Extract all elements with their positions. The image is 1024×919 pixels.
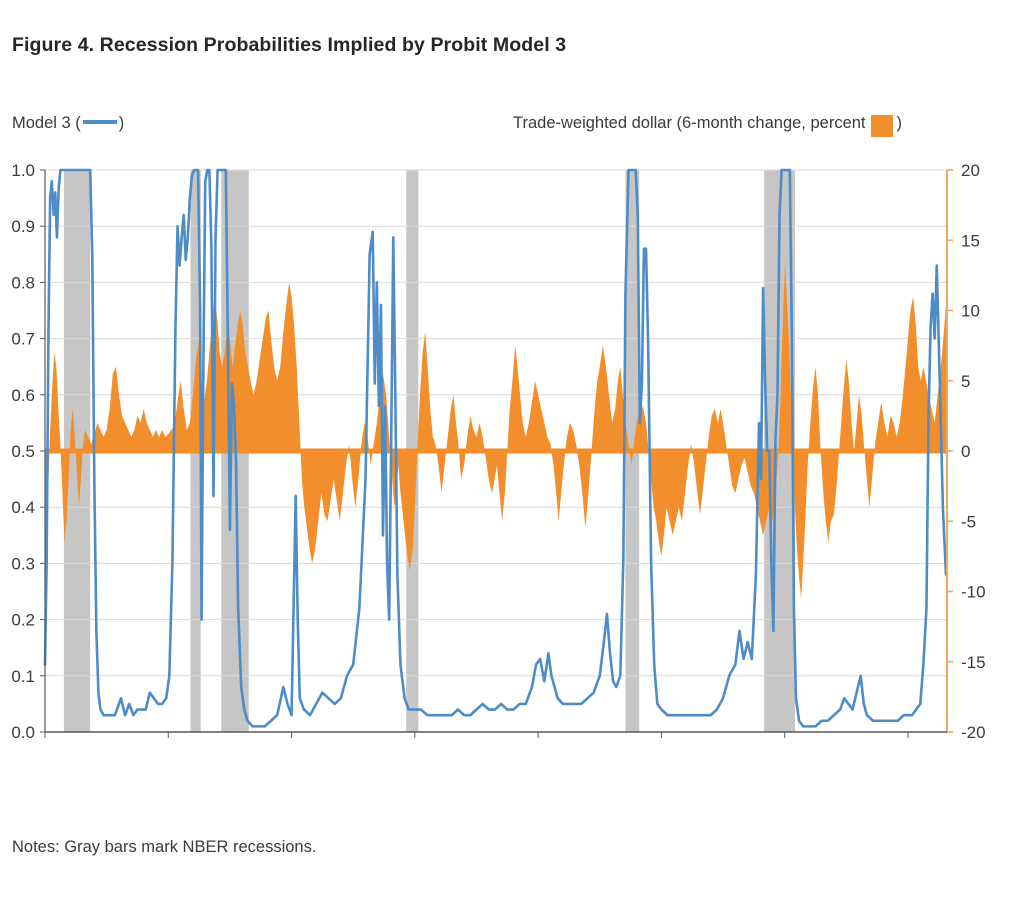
dollar-area-series bbox=[45, 261, 947, 598]
y2-tick-label: 5 bbox=[961, 372, 970, 391]
recession-probability-chart: 1.00.90.80.70.60.50.40.30.20.10.0 201510… bbox=[0, 155, 1024, 745]
y-tick-label: 0.5 bbox=[11, 442, 35, 461]
y2-tick-label: 15 bbox=[961, 231, 980, 250]
y-tick-label: 0.6 bbox=[11, 386, 35, 405]
y2-tick-label: -10 bbox=[961, 583, 986, 602]
legend-model3-suffix: ) bbox=[119, 114, 125, 133]
figure-page: Figure 4. Recession Probabilities Implie… bbox=[0, 0, 1024, 919]
y-tick-label: 0.8 bbox=[11, 273, 35, 292]
y2-tick-label: -20 bbox=[961, 723, 986, 742]
y2-tick-label: 20 bbox=[961, 161, 980, 180]
y2-tick-label: -15 bbox=[961, 653, 986, 672]
y-tick-label: 0.0 bbox=[11, 723, 35, 742]
legend-dollar: Trade-weighted dollar (6-month change, p… bbox=[513, 114, 902, 133]
y-tick-label: 1.0 bbox=[11, 161, 35, 180]
y-tick-label: 0.9 bbox=[11, 217, 35, 236]
y-tick-label: 0.4 bbox=[11, 498, 35, 517]
y-tick-label: 0.7 bbox=[11, 330, 35, 349]
y-axis-tick-labels: 1.00.90.80.70.60.50.40.30.20.10.0 bbox=[11, 161, 45, 742]
legend-model3-prefix: Model 3 ( bbox=[12, 114, 81, 133]
figure-notes: Notes: Gray bars mark NBER recessions. bbox=[12, 838, 316, 857]
legend-dollar-prefix: Trade-weighted dollar (6-month change, p… bbox=[513, 114, 866, 133]
y-tick-label: 0.3 bbox=[11, 554, 35, 573]
y2-tick-label: 0 bbox=[961, 442, 970, 461]
legend-model3: Model 3 () bbox=[12, 114, 124, 133]
blue-line-icon bbox=[83, 120, 117, 124]
legend-dollar-suffix: ) bbox=[897, 114, 903, 133]
y-tick-label: 0.2 bbox=[11, 611, 35, 630]
x-axis-tick-labels: 1/731/791/851/911/971/031/091/15 bbox=[28, 732, 924, 745]
y2-tick-label: 10 bbox=[961, 302, 980, 321]
y-tick-label: 0.1 bbox=[11, 667, 35, 686]
chart-plot-area: 1.00.90.80.70.60.50.40.30.20.10.0 201510… bbox=[0, 155, 1024, 745]
y2-tick-label: -5 bbox=[961, 512, 976, 531]
orange-square-icon bbox=[871, 115, 893, 137]
y2-axis-tick-labels: 20151050-5-10-15-20 bbox=[947, 161, 986, 742]
page-title: Figure 4. Recession Probabilities Implie… bbox=[12, 34, 566, 57]
dollar-area-path bbox=[45, 261, 946, 598]
